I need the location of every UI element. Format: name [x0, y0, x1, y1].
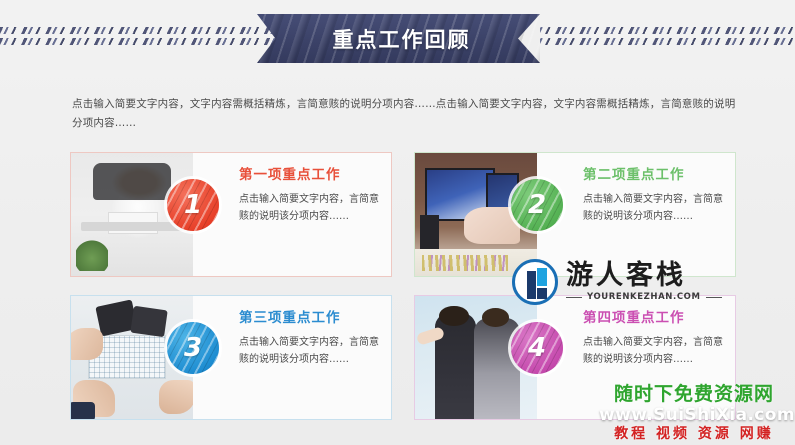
work-card-1[interactable]: 1 第一项重点工作 点击输入简要文字内容，言简意赅的说明该分项内容…… [70, 152, 392, 277]
brand-url: YOURENKEZHAN.COM [587, 292, 701, 302]
card-description-2: 点击输入简要文字内容，言简意赅的说明该分项内容…… [583, 191, 725, 225]
card-title-3: 第三项重点工作 [239, 312, 381, 326]
card-number-badge-3: 3 [167, 322, 219, 374]
watermark-br-line2: www.SuiShiXia.com [599, 405, 789, 425]
watermark-br-line3: 教程 视频 资源 网赚 [599, 425, 789, 443]
ribbon-right-notch-icon [518, 14, 540, 63]
card-body-3: 3 第三项重点工作 点击输入简要文字内容，言简意赅的说明该分项内容…… [193, 296, 391, 419]
card-description-3: 点击输入简要文字内容，言简意赅的说明该分项内容…… [239, 334, 381, 368]
page-title: 重点工作回顾 [333, 24, 471, 54]
slide-header: 重点工作回顾 [0, 0, 795, 76]
watermark-brand: 游人客栈 YOURENKEZHAN.COM [512, 256, 736, 308]
intro-paragraph: 点击输入简要文字内容，文字内容需概括精炼，言简意赅的说明分项内容……点击输入简要… [72, 95, 738, 133]
card-number-badge-1: 1 [167, 179, 219, 231]
brand-text-group: 游人客栈 YOURENKEZHAN.COM [566, 262, 722, 302]
brand-name: 游人客栈 [566, 262, 722, 289]
card-number-badge-4: 4 [511, 322, 563, 374]
card-number-badge-2: 2 [511, 179, 563, 231]
card-number-1: 1 [184, 190, 202, 220]
card-number-4: 4 [528, 333, 546, 363]
watermark-bottom-right: 随时下免费资源网 www.SuiShiXia.com 教程 视频 资源 网赚 [599, 384, 789, 443]
rule-right-icon [706, 297, 722, 298]
brand-logo-icon [512, 259, 558, 305]
slide-canvas: 重点工作回顾 点击输入简要文字内容，文字内容需概括精炼，言简意赅的说明分项内容…… [0, 0, 795, 445]
card-description-4: 点击输入简要文字内容，言简意赅的说明该分项内容…… [583, 334, 725, 368]
title-ribbon: 重点工作回顾 [257, 14, 540, 63]
watermark-br-line1: 随时下免费资源网 [599, 384, 789, 405]
rule-left-icon [566, 297, 582, 298]
card-title-2: 第二项重点工作 [583, 169, 725, 183]
card-title-1: 第一项重点工作 [239, 169, 381, 183]
card-number-2: 2 [528, 190, 546, 220]
card-body-1: 1 第一项重点工作 点击输入简要文字内容，言简意赅的说明该分项内容…… [193, 153, 391, 276]
card-title-4: 第四项重点工作 [583, 312, 725, 326]
card-description-1: 点击输入简要文字内容，言简意赅的说明该分项内容…… [239, 191, 381, 225]
brand-url-row: YOURENKEZHAN.COM [566, 292, 722, 302]
card-number-3: 3 [184, 333, 202, 363]
work-card-3[interactable]: 3 第三项重点工作 点击输入简要文字内容，言简意赅的说明该分项内容…… [70, 295, 392, 420]
